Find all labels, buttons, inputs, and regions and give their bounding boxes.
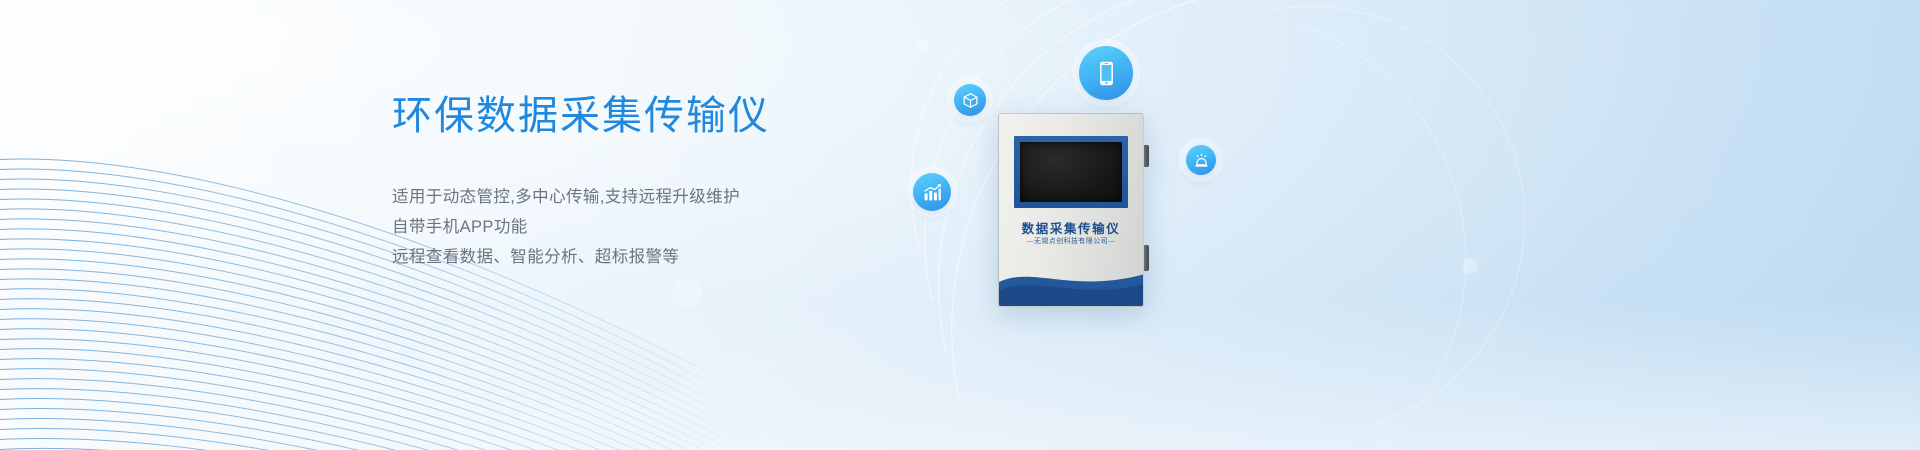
device-body: 数据采集传输仪 —无锡点创科技有限公司— (998, 113, 1144, 307)
alarm-icon[interactable] (1186, 145, 1216, 175)
box-icon[interactable] (954, 84, 986, 116)
device-footer-wave (999, 260, 1144, 306)
device-label: 数据采集传输仪 (999, 218, 1143, 237)
subtitle-list: 适用于动态管控,多中心传输,支持远程升级维护 自带手机APP功能 远程查看数据、… (392, 182, 912, 272)
device-screen-bezel (1014, 136, 1128, 208)
device-side-connector-top (1144, 145, 1149, 167)
product-banner: 环保数据采集传输仪 适用于动态管控,多中心传输,支持远程升级维护 自带手机APP… (0, 0, 1920, 450)
chart-icon[interactable] (913, 173, 951, 211)
subtitle-line-3: 远程查看数据、智能分析、超标报警等 (392, 242, 912, 272)
device-company-label: —无锡点创科技有限公司— (999, 236, 1143, 246)
page-title: 环保数据采集传输仪 (392, 92, 912, 140)
phone-icon[interactable] (1079, 46, 1133, 100)
subtitle-line-2: 自带手机APP功能 (392, 212, 912, 242)
device-screen (1020, 142, 1122, 202)
banner-copy: 环保数据采集传输仪 适用于动态管控,多中心传输,支持远程升级维护 自带手机APP… (392, 92, 912, 272)
subtitle-line-1: 适用于动态管控,多中心传输,支持远程升级维护 (392, 182, 912, 212)
decorative-arcs (880, 0, 1640, 450)
product-illustration: 数据采集传输仪 —无锡点创科技有限公司— (880, 0, 1640, 450)
data-acquisition-device: 数据采集传输仪 —无锡点创科技有限公司— (998, 113, 1144, 307)
bokeh-dot (672, 278, 702, 308)
